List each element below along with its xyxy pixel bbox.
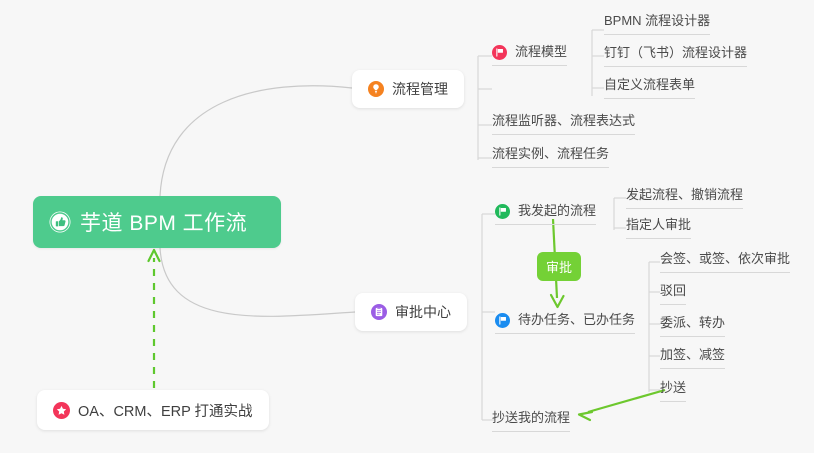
flag-icon [492,45,507,60]
leaf-process-model[interactable]: 流程模型 [492,44,567,66]
branch-label-approval-center: 审批中心 [395,302,451,322]
mindmap-canvas: 芋道 BPM 工作流 流程管理 流程模型 BPMN 流程设计器 钉钉（飞书）流程… [0,0,814,453]
leaf-label-process-model: 流程模型 [515,44,567,60]
leaf-process-listener-expression[interactable]: 流程监听器、流程表达式 [492,113,635,135]
leaf-assignee-approval[interactable]: 指定人审批 [626,217,691,239]
leaf-todo-done-task[interactable]: 待办任务、已办任务 [495,312,635,334]
leaf-carbon-copy[interactable]: 抄送 [660,380,686,402]
leaf-label-my-started-process: 我发起的流程 [518,203,596,219]
flag-icon [495,204,510,219]
integration-label: OA、CRM、ERP 打通实战 [78,400,253,421]
leaf-bpmn-designer[interactable]: BPMN 流程设计器 [604,13,710,35]
root-label: 芋道 BPM 工作流 [80,207,247,237]
root-node[interactable]: 芋道 BPM 工作流 [33,196,281,248]
leaf-custom-process-form[interactable]: 自定义流程表单 [604,77,695,99]
star-icon [53,402,70,419]
leaf-delegate-transfer[interactable]: 委派、转办 [660,315,725,337]
leaf-countersign-modes[interactable]: 会签、或签、依次审批 [660,251,790,273]
leaf-cc-my-process[interactable]: 抄送我的流程 [492,410,570,432]
leaf-reject[interactable]: 驳回 [660,283,686,305]
flag-icon [495,313,510,328]
dashed-arrow-to-root [149,250,160,388]
clipboard-icon [371,304,387,320]
leaf-start-cancel-process[interactable]: 发起流程、撤销流程 [626,187,743,209]
branch-node-process-management[interactable]: 流程管理 [352,70,464,108]
leaf-label-todo-done-task: 待办任务、已办任务 [518,312,635,328]
branch-node-approval-center[interactable]: 审批中心 [355,293,467,331]
leaf-dingtalk-feishu-designer[interactable]: 钉钉（飞书）流程设计器 [604,45,747,67]
leaf-add-remove-sign[interactable]: 加签、减签 [660,347,725,369]
cc-flow-arrow [579,390,665,420]
lightbulb-icon [368,81,384,97]
branch-label-process-management: 流程管理 [392,79,448,99]
integration-node[interactable]: OA、CRM、ERP 打通实战 [37,390,269,430]
leaf-process-instance-task[interactable]: 流程实例、流程任务 [492,146,609,168]
approve-badge: 审批 [537,252,581,281]
leaf-my-started-process[interactable]: 我发起的流程 [495,203,596,225]
thumbs-up-icon [49,211,71,233]
